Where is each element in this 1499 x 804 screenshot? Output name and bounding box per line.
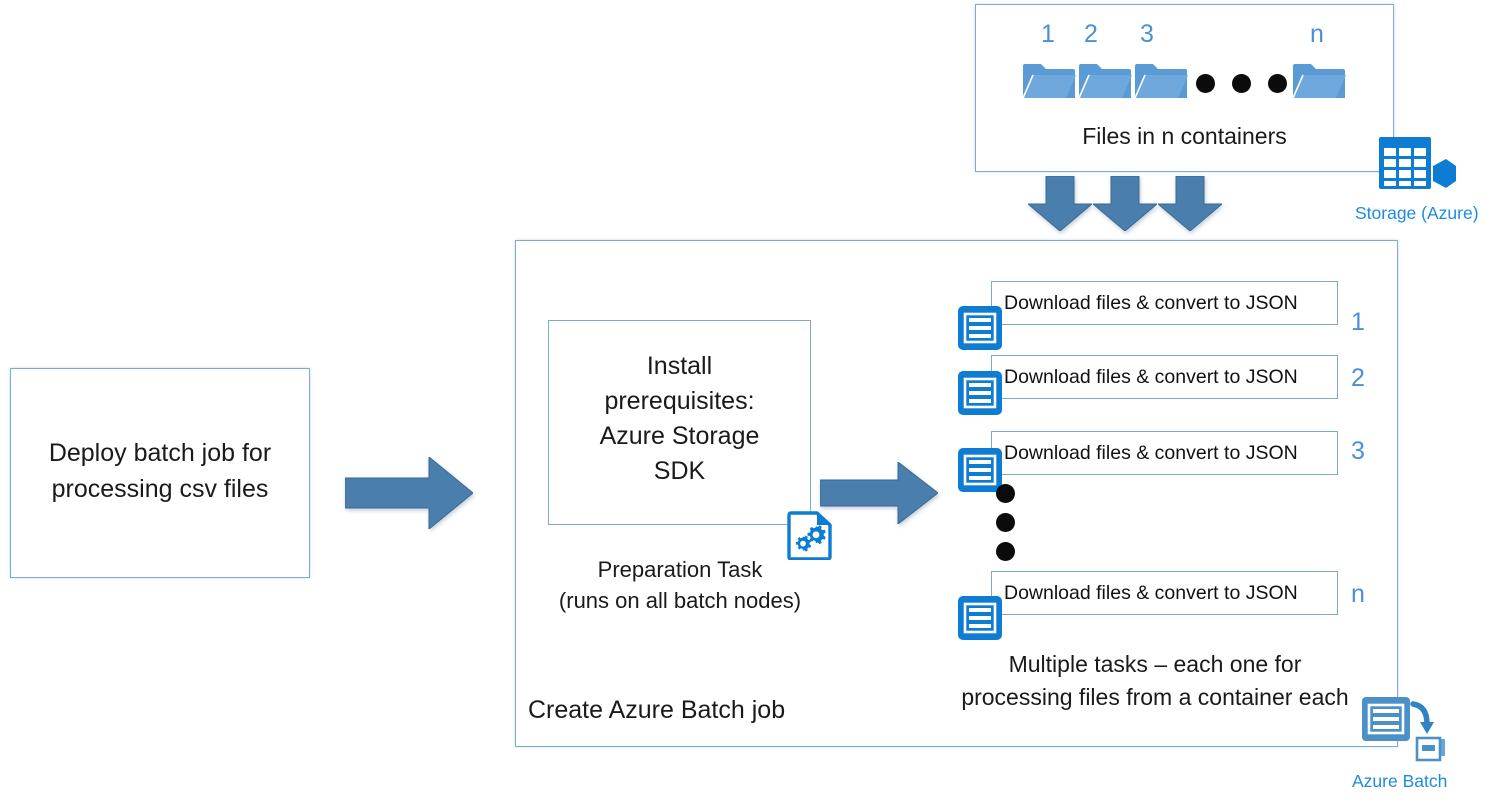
down-arrow-icon-2 bbox=[1093, 176, 1157, 231]
create-azure-batch-job-label: Create Azure Batch job bbox=[528, 696, 785, 725]
folder-number-3: 3 bbox=[1127, 20, 1167, 49]
folder-number-n: n bbox=[1297, 20, 1337, 49]
task-number-3: 3 bbox=[1343, 437, 1373, 466]
deploy-batch-job-label: Deploy batch job for processing csv file… bbox=[10, 435, 310, 507]
folder-number-2: 2 bbox=[1071, 20, 1111, 49]
task-number-1: 1 bbox=[1343, 308, 1373, 337]
task-label-1: Download files & convert to JSON bbox=[1004, 292, 1298, 315]
folder-icon-1[interactable] bbox=[1022, 61, 1076, 101]
task-list-icon-1[interactable] bbox=[957, 305, 999, 347]
task-label-3: Download files & convert to JSON bbox=[1004, 442, 1298, 465]
task-label-n: Download files & convert to JSON bbox=[1004, 582, 1298, 605]
task-ellipsis-dot-2 bbox=[996, 513, 1015, 532]
folder-icon-2[interactable] bbox=[1078, 61, 1132, 101]
folder-icon-3[interactable] bbox=[1134, 61, 1188, 101]
azure-batch-icon[interactable] bbox=[1361, 696, 1447, 773]
down-arrow-icon-1 bbox=[1028, 176, 1092, 231]
right-arrow-icon bbox=[345, 457, 473, 529]
ellipsis-dot-3 bbox=[1268, 74, 1287, 93]
ellipsis-dot-1 bbox=[1196, 74, 1215, 93]
preparation-task-body: Install prerequisites: Azure Storage SDK bbox=[548, 349, 811, 489]
task-ellipsis-dot-3 bbox=[996, 542, 1015, 561]
folder-icon-n[interactable] bbox=[1292, 61, 1346, 101]
task-list-icon-n[interactable] bbox=[957, 595, 999, 637]
right-arrow-icon-2 bbox=[820, 462, 938, 524]
folder-number-1: 1 bbox=[1028, 20, 1068, 49]
storage-service-label: Storage (Azure) bbox=[1355, 203, 1479, 224]
ellipsis-dot-2 bbox=[1232, 74, 1251, 93]
tasks-caption: Multiple tasks – each one for processing… bbox=[905, 648, 1405, 714]
task-list-icon-3[interactable] bbox=[957, 447, 999, 489]
files-in-containers-caption: Files in n containers bbox=[975, 123, 1394, 150]
task-label-2: Download files & convert to JSON bbox=[1004, 366, 1298, 389]
task-number-n: n bbox=[1343, 580, 1373, 609]
down-arrow-icon-3 bbox=[1158, 176, 1222, 231]
task-ellipsis-dot-1 bbox=[996, 484, 1015, 503]
azure-storage-icon[interactable] bbox=[1378, 136, 1456, 209]
diagram-canvas: Deploy batch job for processing csv file… bbox=[0, 0, 1499, 804]
task-list-icon-2[interactable] bbox=[957, 370, 999, 412]
task-number-2: 2 bbox=[1343, 364, 1373, 393]
batch-service-label: Azure Batch bbox=[1352, 771, 1447, 792]
